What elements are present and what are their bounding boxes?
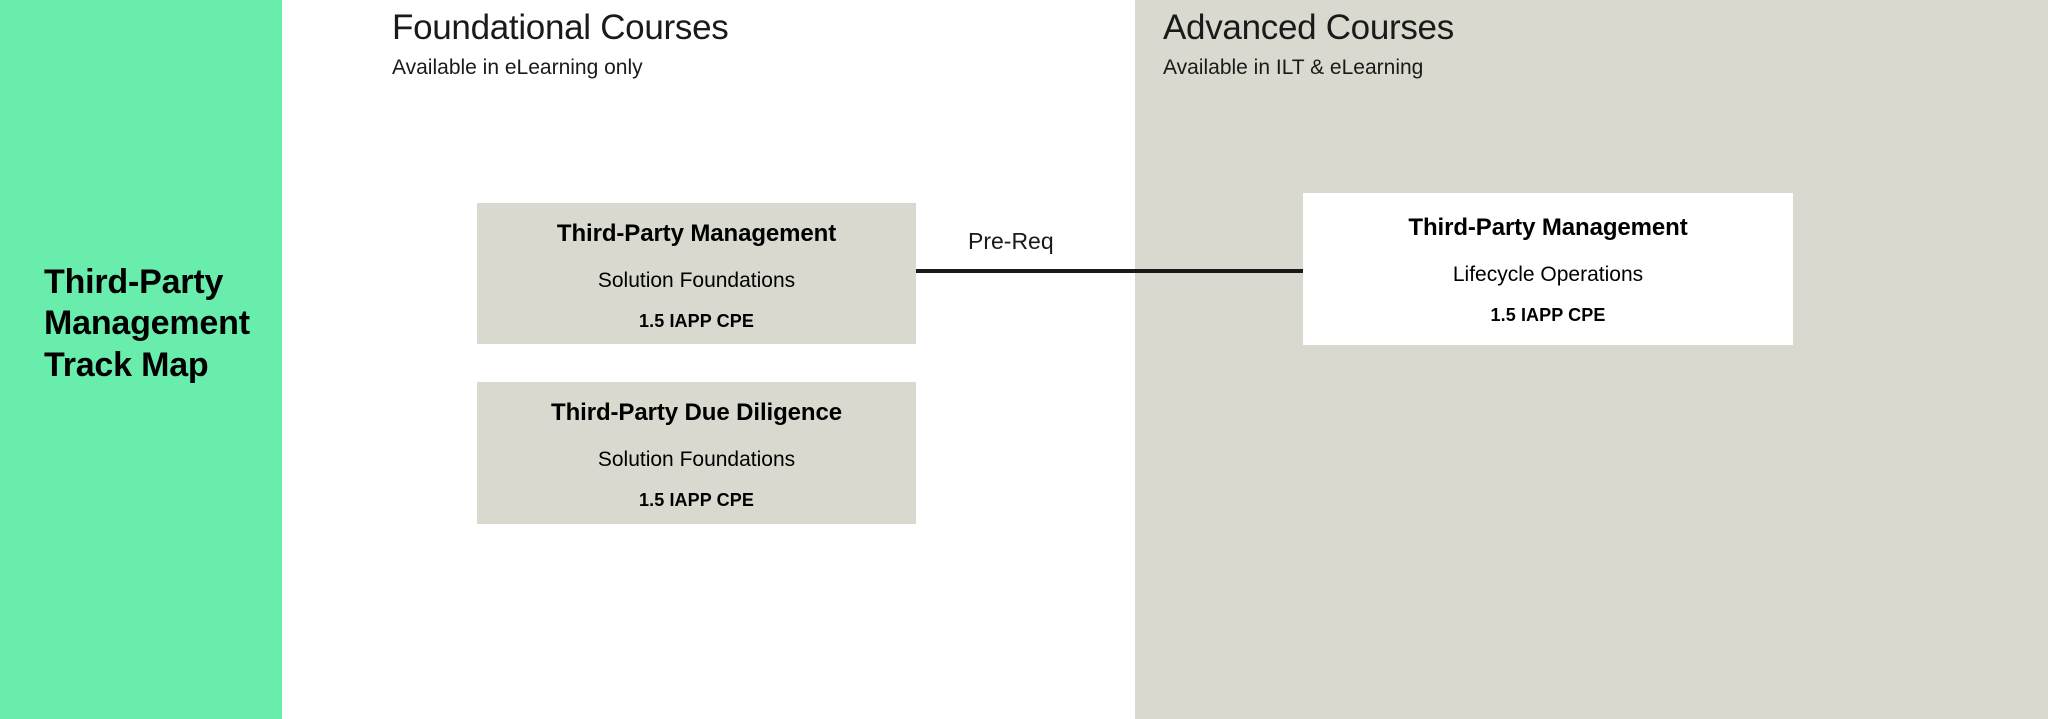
course-card-tpm-lifecycle[interactable]: Third-Party Management Lifecycle Operati…	[1303, 193, 1793, 345]
advanced-column-header: Advanced Courses Available in ILT & eLea…	[1163, 10, 1454, 80]
course-cpe-credit: 1.5 IAPP CPE	[477, 490, 916, 512]
course-track: Solution Foundations	[477, 447, 916, 472]
advanced-column-title: Advanced Courses	[1163, 10, 1454, 47]
track-title-panel: Third-Party Management Track Map	[0, 0, 282, 719]
track-map-canvas: Third-Party Management Track Map Foundat…	[0, 0, 2048, 719]
page-title: Third-Party Management Track Map	[44, 262, 274, 386]
course-name: Third-Party Due Diligence	[477, 399, 916, 428]
course-cpe-credit: 1.5 IAPP CPE	[1303, 305, 1793, 327]
advanced-column-subtitle: Available in ILT & eLearning	[1163, 55, 1454, 80]
course-card-tpm-foundations[interactable]: Third-Party Management Solution Foundati…	[477, 203, 916, 344]
foundational-column-subtitle: Available in eLearning only	[392, 55, 728, 80]
foundational-column-header: Foundational Courses Available in eLearn…	[392, 10, 728, 80]
foundational-courses-panel	[282, 0, 1135, 719]
course-track: Lifecycle Operations	[1303, 262, 1793, 287]
course-cpe-credit: 1.5 IAPP CPE	[477, 311, 916, 333]
course-track: Solution Foundations	[477, 268, 916, 293]
prereq-connector-line	[916, 269, 1303, 273]
foundational-column-title: Foundational Courses	[392, 10, 728, 47]
advanced-courses-panel	[1135, 0, 2048, 719]
course-card-tpdd-foundations[interactable]: Third-Party Due Diligence Solution Found…	[477, 382, 916, 524]
course-name: Third-Party Management	[1303, 214, 1793, 243]
prereq-connector-label: Pre-Req	[968, 228, 1054, 255]
course-name: Third-Party Management	[477, 220, 916, 249]
